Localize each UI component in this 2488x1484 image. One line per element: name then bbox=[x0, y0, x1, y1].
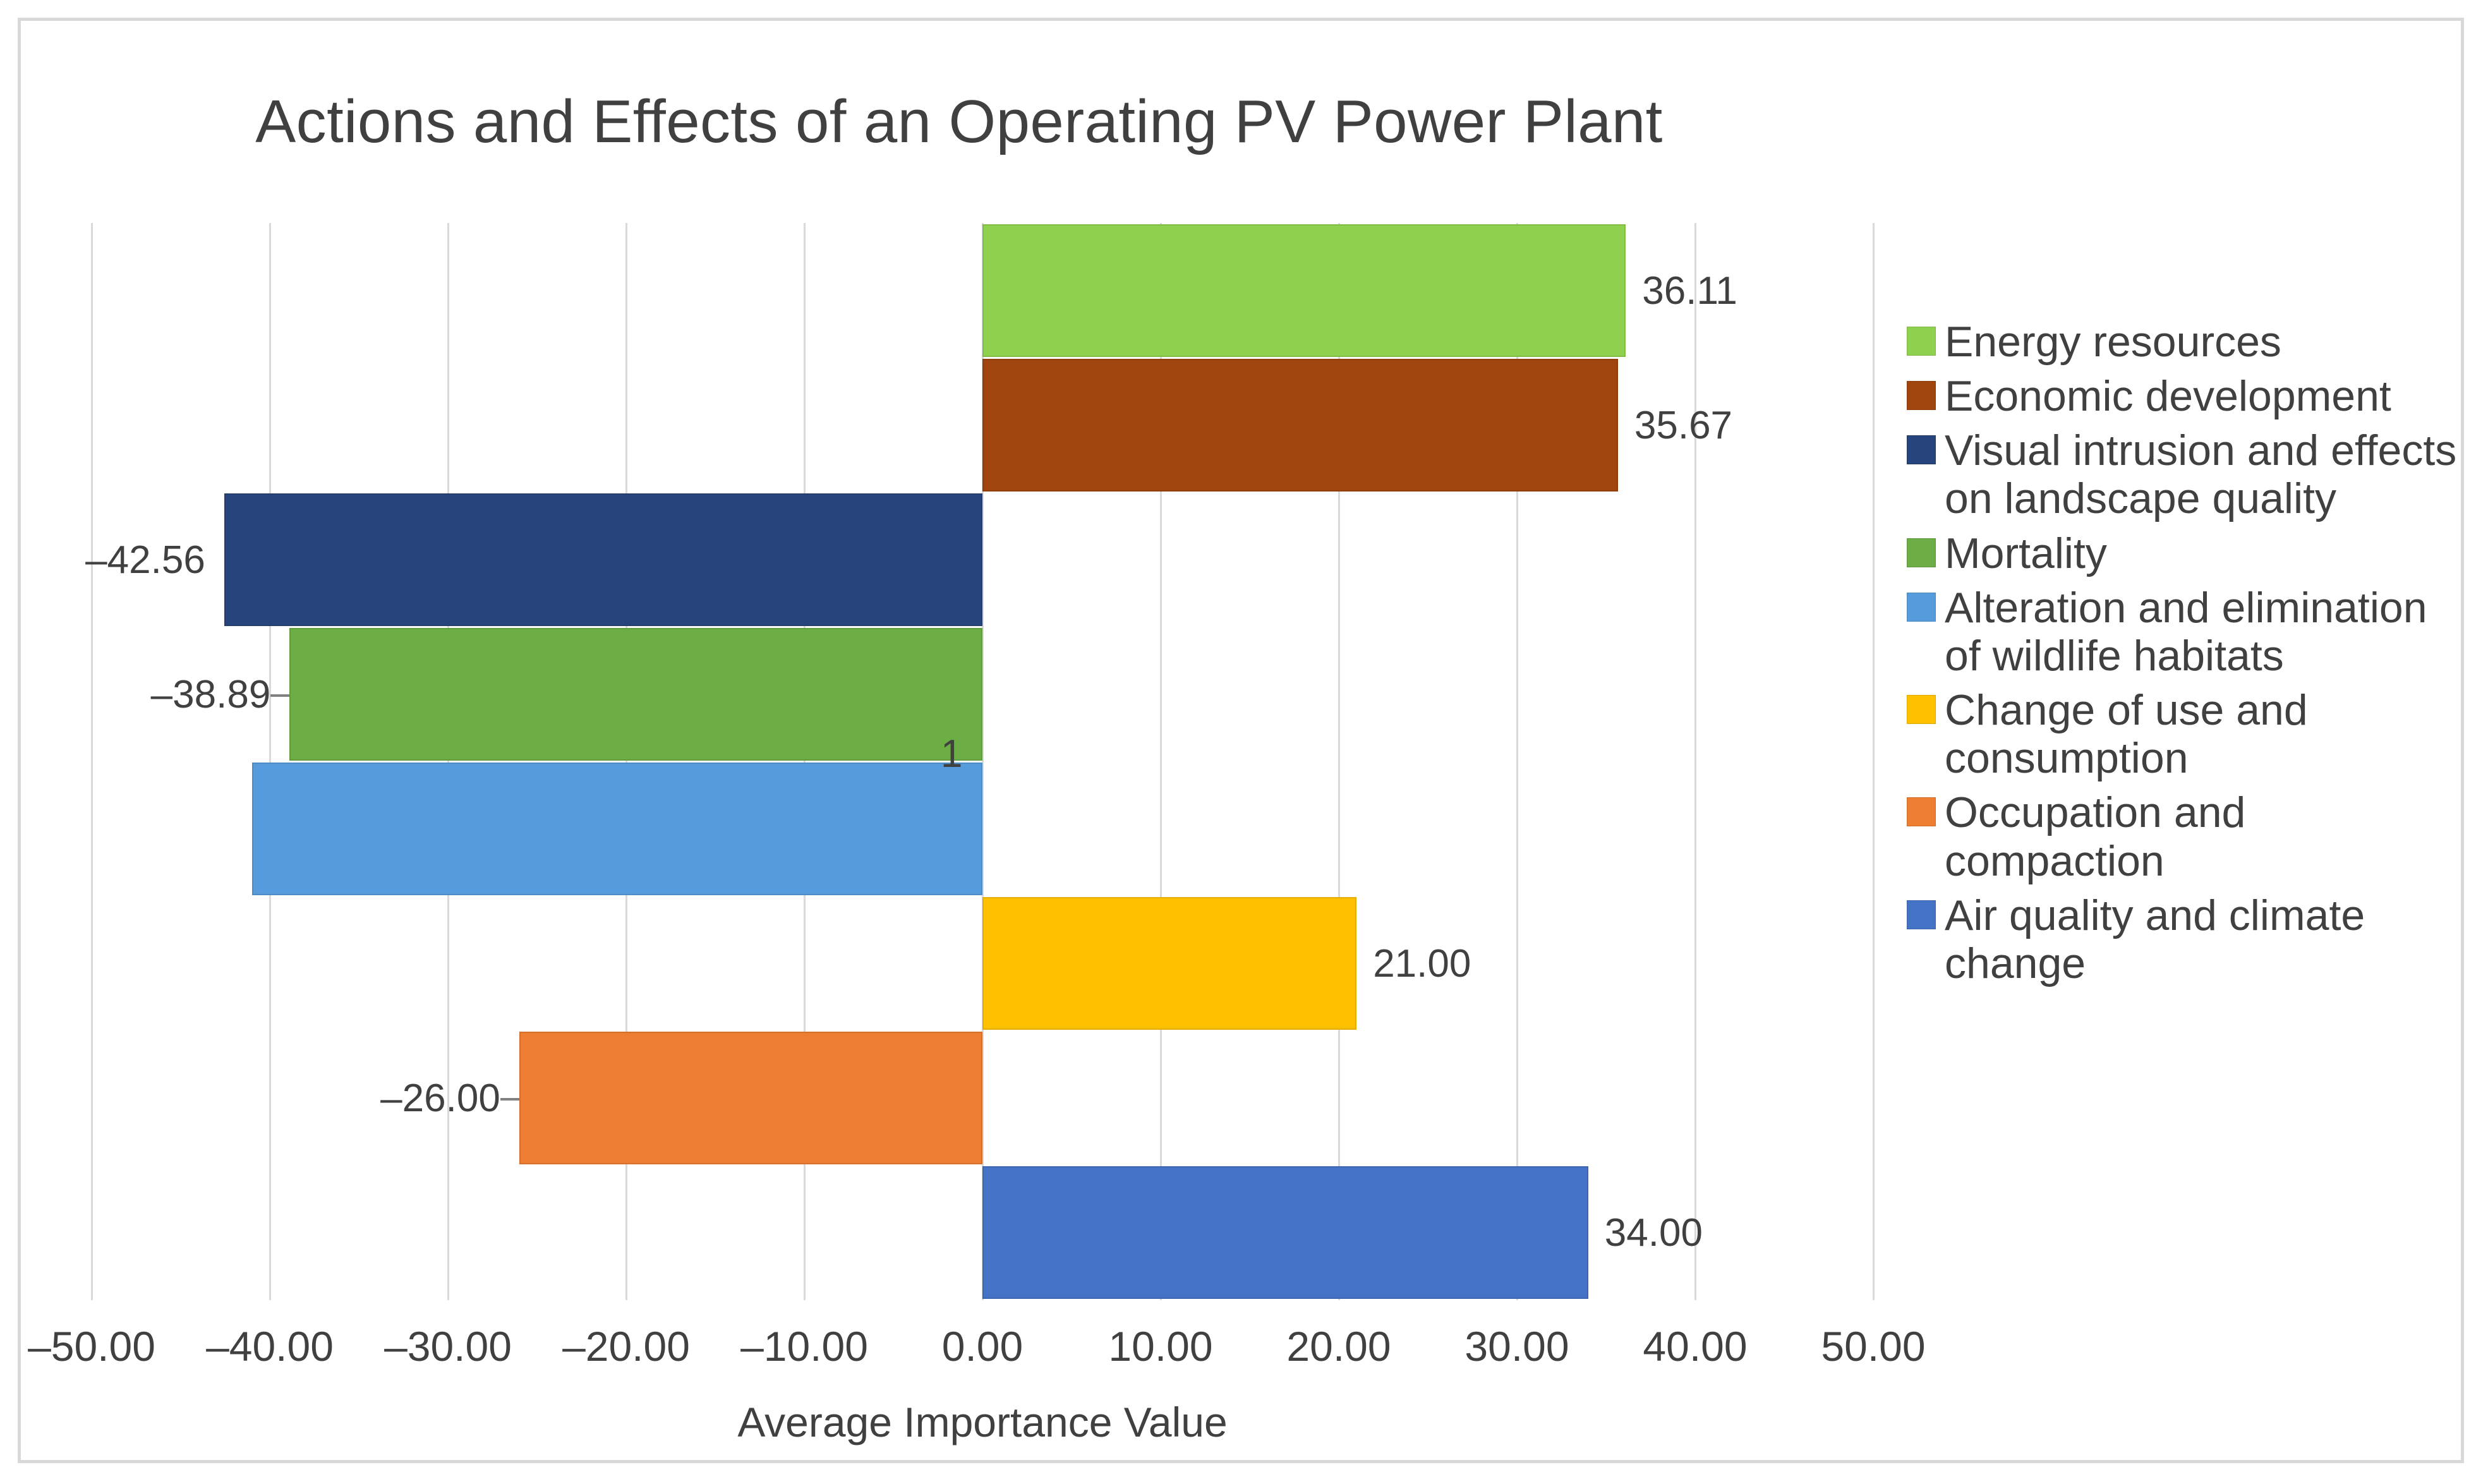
x-axis-tick-label: ‒20.00 bbox=[562, 1322, 690, 1370]
bar[interactable] bbox=[252, 763, 982, 895]
chart-title: Actions and Effects of an Operating PV P… bbox=[21, 87, 1897, 157]
legend-item[interactable]: Economic development bbox=[1907, 372, 2463, 420]
legend-item[interactable]: Energy resources bbox=[1907, 318, 2463, 366]
legend-swatch-icon bbox=[1907, 381, 1936, 410]
x-axis-tick-label: 10.00 bbox=[1108, 1322, 1212, 1370]
chart-container: Actions and Effects of an Operating PV P… bbox=[18, 18, 2464, 1463]
chart-legend: Energy resourcesEconomic developmentVisu… bbox=[1907, 318, 2463, 994]
x-axis-tick-label: ‒10.00 bbox=[740, 1322, 868, 1370]
legend-item-label: Economic development bbox=[1945, 372, 2391, 420]
bar-data-label: 21.00 bbox=[1373, 944, 1471, 984]
legend-item[interactable]: Occupation and compaction bbox=[1907, 788, 2463, 884]
gridline bbox=[91, 223, 93, 1300]
x-axis-tick-label: 30.00 bbox=[1464, 1322, 1569, 1370]
x-axis-tick-label: 20.00 bbox=[1286, 1322, 1391, 1370]
bar[interactable] bbox=[289, 628, 982, 761]
legend-swatch-icon bbox=[1907, 327, 1936, 356]
bar[interactable] bbox=[224, 493, 982, 626]
bar[interactable] bbox=[982, 359, 1618, 492]
plot-area: 36.1135.67‒42.56‒38.89121.00‒26.0034.00 bbox=[92, 223, 1873, 1300]
x-axis-tick-label: 40.00 bbox=[1643, 1322, 1747, 1370]
x-axis-tick-label: 50.00 bbox=[1821, 1322, 1925, 1370]
legend-item[interactable]: Alteration and elimination of wildlife h… bbox=[1907, 584, 2463, 680]
bar-data-label: ‒38.89 bbox=[151, 675, 271, 715]
legend-item[interactable]: Mortality bbox=[1907, 529, 2463, 577]
label-leader-line bbox=[270, 694, 289, 697]
gridline bbox=[447, 223, 449, 1300]
bar[interactable] bbox=[982, 897, 1356, 1030]
label-leader-line bbox=[500, 1098, 519, 1101]
x-axis-tick-label: ‒30.00 bbox=[384, 1322, 512, 1370]
legend-item[interactable]: Change of use and consumption bbox=[1907, 686, 2463, 782]
legend-item[interactable]: Visual intrusion and effects on landscap… bbox=[1907, 426, 2463, 522]
x-axis-tick-label: ‒50.00 bbox=[28, 1322, 155, 1370]
gridline bbox=[269, 223, 271, 1300]
gridline bbox=[1694, 223, 1696, 1300]
legend-item-label: Visual intrusion and effects on landscap… bbox=[1945, 426, 2463, 522]
x-axis-tick-labels: ‒50.00‒40.00‒30.00‒20.00‒10.000.0010.002… bbox=[92, 1322, 1873, 1379]
legend-item-label: Alteration and elimination of wildlife h… bbox=[1945, 584, 2463, 680]
gridline bbox=[1873, 223, 1875, 1300]
legend-item-label: Air quality and climate change bbox=[1945, 891, 2463, 987]
legend-swatch-icon bbox=[1907, 435, 1936, 464]
x-axis-tick-label: 0.00 bbox=[942, 1322, 1023, 1370]
legend-swatch-icon bbox=[1907, 900, 1936, 929]
bar-data-label: 34.00 bbox=[1605, 1214, 1703, 1253]
legend-item-label: Change of use and consumption bbox=[1945, 686, 2463, 782]
legend-item-label: Mortality bbox=[1945, 529, 2107, 577]
bar-data-label: ‒42.56 bbox=[85, 541, 205, 580]
bar-data-label: 1 bbox=[941, 735, 962, 774]
bar-data-label: 35.67 bbox=[1634, 406, 1732, 445]
bar[interactable] bbox=[519, 1032, 982, 1164]
legend-swatch-icon bbox=[1907, 593, 1936, 622]
x-axis-tick-label: ‒40.00 bbox=[206, 1322, 334, 1370]
legend-swatch-icon bbox=[1907, 797, 1936, 826]
bar[interactable] bbox=[982, 1166, 1588, 1299]
bar[interactable] bbox=[982, 224, 1626, 357]
legend-item-label: Occupation and compaction bbox=[1945, 788, 2463, 884]
legend-swatch-icon bbox=[1907, 695, 1936, 724]
bar-data-label: ‒26.00 bbox=[380, 1079, 500, 1118]
bar-data-label: 36.11 bbox=[1642, 272, 1737, 311]
legend-item-label: Energy resources bbox=[1945, 318, 2281, 366]
x-axis-title: Average Importance Value bbox=[92, 1398, 1873, 1446]
legend-item[interactable]: Air quality and climate change bbox=[1907, 891, 2463, 987]
legend-swatch-icon bbox=[1907, 538, 1936, 567]
